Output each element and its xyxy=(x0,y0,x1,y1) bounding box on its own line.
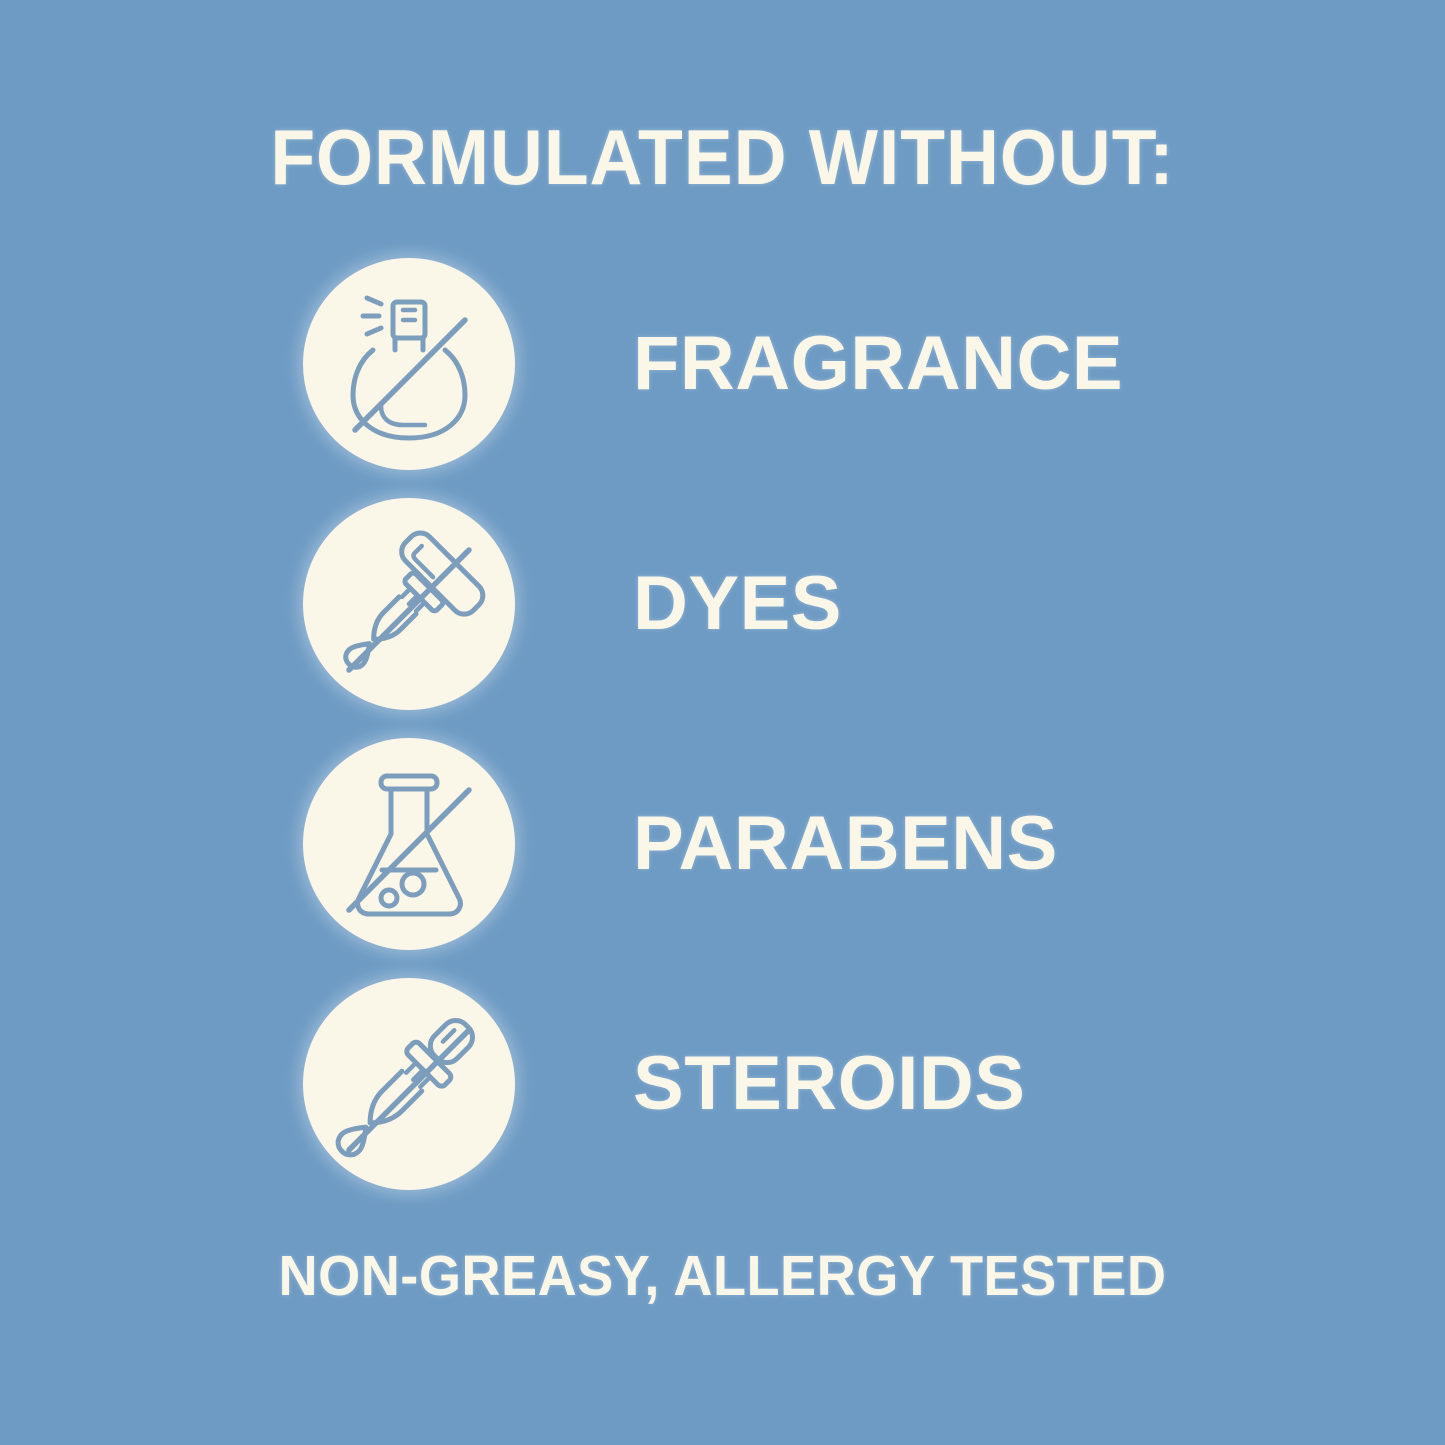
formulated-without-panel: FORMULATED WITHOUT: xyxy=(0,0,1445,1445)
list-item: PARABENS xyxy=(0,738,1445,978)
no-erlenmeyer-flask-icon xyxy=(303,738,515,950)
list-item: DYES xyxy=(0,498,1445,738)
list-item-label: FRAGRANCE xyxy=(633,258,1123,470)
list-item-label: STEROIDS xyxy=(633,978,1026,1190)
no-diagonal-dropper-icon xyxy=(303,498,515,710)
page-title: FORMULATED WITHOUT: xyxy=(43,118,1401,196)
list-item-label: DYES xyxy=(633,498,842,710)
footer-claim: NON-GREASY, ALLERGY TESTED xyxy=(36,1248,1409,1305)
list-item-label: PARABENS xyxy=(633,738,1058,950)
no-perfume-bottle-icon xyxy=(303,258,515,470)
claims-list: FRAGRANCE xyxy=(0,258,1445,1218)
list-item: FRAGRANCE xyxy=(0,258,1445,498)
list-item: STEROIDS xyxy=(0,978,1445,1218)
no-dropper-with-drop-icon xyxy=(303,978,515,1190)
